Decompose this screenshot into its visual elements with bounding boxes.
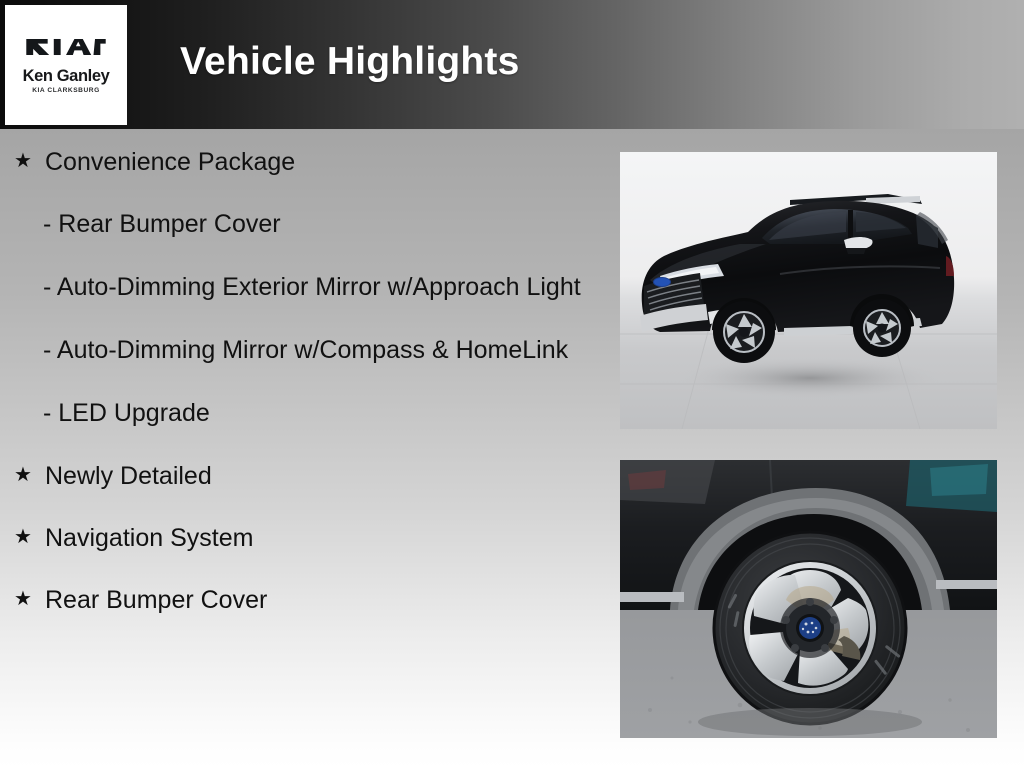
highlight-subitem-label: - Auto-Dimming Mirror w/Compass & HomeLi…	[43, 336, 568, 364]
highlight-item-label: Newly Detailed	[45, 459, 212, 493]
highlight-subitem-label: - Auto-Dimming Exterior Mirror w/Approac…	[43, 273, 581, 301]
highlight-subitem: - Auto-Dimming Mirror w/Compass & HomeLi…	[0, 333, 600, 368]
star-bullet-icon: ★	[14, 583, 45, 615]
dealer-name: Ken Ganley	[23, 68, 110, 85]
vehicle-wheel-photo	[620, 460, 997, 738]
star-bullet-icon: ★	[14, 145, 45, 177]
dealer-sublabel: KIA CLARKSBURG	[32, 88, 100, 95]
highlight-subitem: - Auto-Dimming Exterior Mirror w/Approac…	[0, 270, 600, 305]
highlight-item: ★Convenience Package	[0, 145, 600, 179]
slide-canvas: Ken Ganley KIA CLARKSBURG Vehicle Highli…	[0, 0, 1024, 768]
dealer-logo: Ken Ganley KIA CLARKSBURG	[5, 5, 127, 125]
star-bullet-icon: ★	[14, 459, 45, 491]
highlight-subitem-label: - Rear Bumper Cover	[43, 210, 281, 238]
highlight-item-label: Rear Bumper Cover	[45, 583, 267, 617]
highlight-item: ★Navigation System	[0, 521, 600, 555]
vehicle-exterior-photo	[620, 152, 997, 429]
page-title: Vehicle Highlights	[180, 42, 520, 81]
slide-header: Ken Ganley KIA CLARKSBURG Vehicle Highli…	[0, 0, 1024, 129]
highlight-item-label: Navigation System	[45, 521, 253, 555]
highlights-list: ★Convenience Package- Rear Bumper Cover-…	[0, 145, 600, 645]
highlight-item-label: Convenience Package	[45, 145, 295, 179]
highlight-item: ★Newly Detailed	[0, 459, 600, 493]
highlight-subitem-label: - LED Upgrade	[43, 399, 210, 427]
highlight-subitem: - Rear Bumper Cover	[0, 207, 600, 242]
star-bullet-icon: ★	[14, 521, 45, 553]
highlight-item: ★Rear Bumper Cover	[0, 583, 600, 617]
kia-logo-mark	[24, 35, 108, 59]
highlight-subitem: - LED Upgrade	[0, 396, 600, 431]
